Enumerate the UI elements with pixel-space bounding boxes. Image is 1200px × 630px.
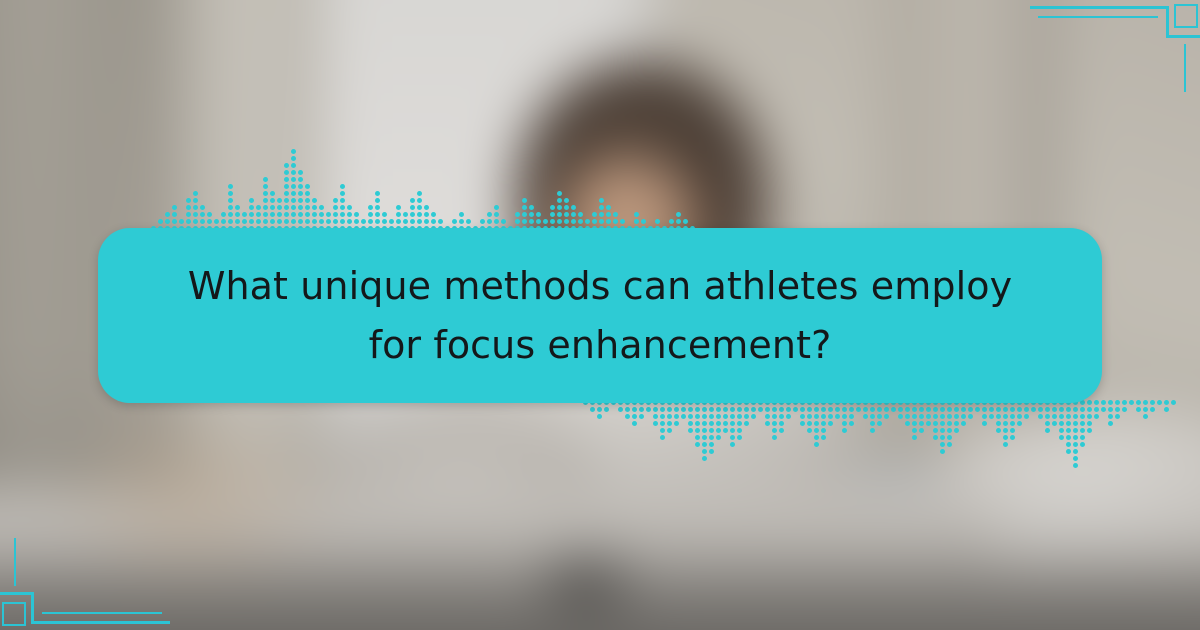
waveform-dot [667,428,672,433]
waveform-bar [820,400,827,442]
waveform-dot [779,407,784,412]
waveform-bar [290,149,297,233]
waveform-dot [431,219,436,224]
waveform-dot [193,191,198,196]
waveform-dot [1059,428,1064,433]
waveform-dot [543,219,548,224]
waveform-bar [1037,400,1044,421]
waveform-dot [1045,428,1050,433]
waveform-bar [834,400,841,421]
waveform-dot [772,407,777,412]
waveform-bar [904,400,911,428]
waveform-dot [298,205,303,210]
waveform-dot [550,212,555,217]
waveform-dot [431,212,436,217]
waveform-dot [814,442,819,447]
waveform-dot [557,191,562,196]
deco-line-horizontal-3 [0,592,34,595]
waveform-dot [821,421,826,426]
waveform-bar [806,400,813,435]
waveform-dot [312,212,317,217]
waveform-dot [291,219,296,224]
waveform-dot [842,414,847,419]
waveform-dot [772,414,777,419]
waveform-dot [926,414,931,419]
waveform-dot [284,205,289,210]
waveform-dot [940,442,945,447]
waveform-dot [779,414,784,419]
waveform-bar [743,400,750,428]
waveform-dot [1059,421,1064,426]
waveform-bar [1163,400,1170,414]
waveform-dot [459,219,464,224]
waveform-dot [1066,428,1071,433]
waveform-dot [667,407,672,412]
waveform-dot [550,205,555,210]
waveform-dot [256,205,261,210]
waveform-dot [982,407,987,412]
waveform-dot [312,219,317,224]
waveform-dot [870,414,875,419]
waveform-dot [354,219,359,224]
waveform-dot [291,205,296,210]
waveform-bar [1156,400,1163,407]
waveform-dot [625,407,630,412]
waveform-dot [1010,428,1015,433]
waveform-dot [291,156,296,161]
waveform-dot [744,407,749,412]
waveform-dot [814,407,819,412]
waveform-dot [214,219,219,224]
waveform-dot [1101,400,1106,405]
waveform-dot [982,414,987,419]
waveform-dot [814,435,819,440]
waveform-dot [263,219,268,224]
waveform-dot [1003,407,1008,412]
waveform-dot [1038,407,1043,412]
waveform-dot [333,219,338,224]
waveform-dot [270,212,275,217]
waveform-dot [730,435,735,440]
waveform-dot [1143,414,1148,419]
waveform-bar [932,400,939,442]
waveform-dot [424,205,429,210]
waveform-dot [410,205,415,210]
waveform-dot [884,407,889,412]
waveform-dot [667,421,672,426]
waveform-bar [925,400,932,428]
waveform-dot [291,191,296,196]
waveform-dot [235,219,240,224]
waveform-dot [1136,407,1141,412]
waveform-bar [1023,400,1030,421]
waveform-bar [1058,400,1065,442]
waveform-dot [256,212,261,217]
waveform-dot [200,212,205,217]
waveform-dot [933,421,938,426]
waveform-bar [1079,400,1086,449]
waveform-dot [961,421,966,426]
waveform-dot [926,421,931,426]
waveform-dot [228,198,233,203]
waveform-dot [870,421,875,426]
waveform-dot [695,442,700,447]
waveform-dot [877,407,882,412]
waveform-bar [374,191,381,233]
waveform-dot [765,407,770,412]
waveform-dot [634,212,639,217]
waveform-bar [1149,400,1156,414]
question-line-2: for focus enhancement? [369,323,832,367]
waveform-dot [277,219,282,224]
waveform-dot [646,407,651,412]
waveform-dot [291,198,296,203]
waveform-dot [578,219,583,224]
waveform-dot [319,219,324,224]
waveform-dot [326,219,331,224]
waveform-dot [1073,456,1078,461]
waveform-dot [242,219,247,224]
waveform-dot [305,219,310,224]
waveform-dot [702,442,707,447]
waveform-dot [277,198,282,203]
waveform-bar [862,400,869,421]
waveform-dot [613,212,618,217]
waveform-dot [863,407,868,412]
waveform-bar [1072,400,1079,470]
waveform-dot [634,219,639,224]
waveform-dot [709,421,714,426]
waveform-dot [284,191,289,196]
waveform-dot [1150,400,1155,405]
waveform-dot [772,428,777,433]
waveform-dot [333,198,338,203]
waveform-bar [1065,400,1072,456]
waveform-dot [368,212,373,217]
waveform-dot [606,219,611,224]
waveform-dot [298,191,303,196]
waveform-dot [716,414,721,419]
waveform-dot [989,414,994,419]
waveform-dot [681,414,686,419]
waveform-dot [1066,449,1071,454]
waveform-bar [596,400,603,421]
waveform-dot [1101,407,1106,412]
waveform-dot [403,219,408,224]
waveform-dot [695,435,700,440]
waveform-bar [1170,400,1177,407]
waveform-bar [722,400,729,435]
waveform-dot [298,184,303,189]
waveform-dot [249,212,254,217]
waveform-dot [1080,421,1085,426]
waveform-dot [571,219,576,224]
waveform-dot [1024,407,1029,412]
waveform-dot [688,414,693,419]
waveform-bar [652,400,659,428]
waveform-dot [1094,414,1099,419]
waveform-dot [284,163,289,168]
waveform-dot [821,435,826,440]
waveform-dot [284,184,289,189]
waveform-dot [620,219,625,224]
waveform-dot [340,191,345,196]
waveform-dot [898,414,903,419]
waveform-dot [947,414,952,419]
waveform-dot [849,421,854,426]
waveform-dot [989,407,994,412]
waveform-dot [494,219,499,224]
waveform-dot [228,191,233,196]
waveform-dot [347,205,352,210]
waveform-bar [680,400,687,421]
waveform-dot [1115,407,1120,412]
waveform-dot [382,219,387,224]
waveform-dot [947,442,952,447]
waveform-bar [624,400,631,421]
waveform-dot [291,212,296,217]
waveform-dot [1157,400,1162,405]
waveform-dot [695,414,700,419]
waveform-dot [179,219,184,224]
waveform-bar [1009,400,1016,442]
waveform-dot [639,414,644,419]
waveform-dot [186,198,191,203]
waveform-bar [1044,400,1051,435]
waveform-bar [967,400,974,421]
waveform-dot [263,177,268,182]
waveform-dot [618,407,623,412]
waveform-dot [660,428,665,433]
waveform-dot [709,407,714,412]
waveform-dot [737,428,742,433]
waveform-dot [340,219,345,224]
waveform-dot [1080,414,1085,419]
waveform-bar [262,177,269,233]
waveform-dot [186,219,191,224]
waveform-dot [375,198,380,203]
waveform-bar [1107,400,1114,428]
waveform-bar [659,400,666,442]
waveform-dot [571,212,576,217]
waveform-dot [305,205,310,210]
waveform-dot [842,428,847,433]
waveform-dot [186,205,191,210]
waveform-dot [940,449,945,454]
waveform-dot [487,219,492,224]
waveform-dot [333,212,338,217]
waveform-dot [730,428,735,433]
waveform-dot [982,421,987,426]
waveform-bar [1016,400,1023,428]
waveform-dot [557,198,562,203]
waveform-dot [298,212,303,217]
waveform-dot [487,212,492,217]
waveform-dot [1150,407,1155,412]
waveform-dot [375,219,380,224]
waveform-dot [606,212,611,217]
waveform-dot [298,177,303,182]
waveform-dot [947,435,952,440]
waveform-dot [926,407,931,412]
waveform-dot [1108,414,1113,419]
waveform-dot [996,407,1001,412]
waveform-dot [312,198,317,203]
waveform-dot [660,407,665,412]
waveform-bar [771,400,778,442]
waveform-bar [631,400,638,428]
waveform-dot [905,421,910,426]
deco-line-horizontal-1 [1030,6,1166,9]
waveform-dot [571,205,576,210]
waveform-dot [284,177,289,182]
waveform-bar [981,400,988,428]
waveform-dot [597,414,602,419]
waveform-bar [192,191,199,233]
waveform-dot [1045,407,1050,412]
waveform-dot [1073,407,1078,412]
waveform-dot [1087,421,1092,426]
waveform-dot [919,421,924,426]
waveform-dot [919,428,924,433]
waveform-dot [1038,414,1043,419]
waveform-dot [606,205,611,210]
waveform-bar [799,400,806,428]
waveform-dot [172,205,177,210]
waveform-bar [953,400,960,435]
waveform-dot [912,407,917,412]
waveform-bar [883,400,890,421]
waveform-dot [954,421,959,426]
waveform-bar [339,184,346,233]
waveform-dot [1003,435,1008,440]
waveform-bar [736,400,743,442]
waveform-dot [557,212,562,217]
waveform-dot [709,414,714,419]
waveform-dot [807,407,812,412]
waveform-dot [599,212,604,217]
waveform-bar [764,400,771,428]
waveform-dot [653,414,658,419]
waveform-dot [1080,428,1085,433]
waveform-dot [347,219,352,224]
deco-line-vertical-1 [31,592,34,624]
waveform-dot [1010,421,1015,426]
waveform-dot [305,212,310,217]
waveform-dot [193,198,198,203]
waveform-dot [389,219,394,224]
waveform-dot [793,407,798,412]
waveform-dot [354,212,359,217]
waveform-dot [842,421,847,426]
waveform-dot [723,428,728,433]
waveform-dot [625,414,630,419]
waveform-dot [298,198,303,203]
waveform-dot [284,212,289,217]
waveform-dot [284,219,289,224]
waveform-dot [1059,435,1064,440]
waveform-dot [807,421,812,426]
waveform-dot [417,205,422,210]
waveform-bar [1135,400,1142,414]
waveform-dot [564,219,569,224]
waveform-dot [744,421,749,426]
waveform-dot [961,407,966,412]
waveform-dot [158,219,163,224]
waveform-bar [1142,400,1149,421]
waveform-dot [933,407,938,412]
waveform-dot [723,414,728,419]
waveform-dot [228,219,233,224]
waveform-dot [459,212,464,217]
waveform-dot [737,421,742,426]
waveform-dot [263,205,268,210]
waveform-dot [263,191,268,196]
audio-waveform-top [150,149,696,233]
waveform-dot [730,407,735,412]
waveform-dot [1073,435,1078,440]
audio-waveform-bottom [582,400,1177,470]
waveform-dot [688,407,693,412]
waveform-dot [751,407,756,412]
waveform-dot [298,219,303,224]
deco-line-vertical-1 [1166,6,1169,38]
waveform-dot [688,428,693,433]
waveform-dot [716,407,721,412]
waveform-dot [849,407,854,412]
question-text: What unique methods can athletes employ … [188,257,1012,375]
waveform-dot [424,212,429,217]
waveform-dot [522,219,527,224]
waveform-dot [905,414,910,419]
waveform-bar [813,400,820,449]
waveform-bar [988,400,995,421]
waveform-dot [779,428,784,433]
waveform-dot [786,414,791,419]
waveform-dot [702,435,707,440]
deco-square [1174,4,1198,28]
waveform-dot [1108,400,1113,405]
waveform-dot [912,428,917,433]
waveform-dot [730,421,735,426]
waveform-dot [613,219,618,224]
waveform-dot [786,407,791,412]
waveform-dot [877,414,882,419]
waveform-dot [1024,414,1029,419]
waveform-dot [933,435,938,440]
waveform-dot [702,428,707,433]
waveform-dot [681,407,686,412]
waveform-dot [919,414,924,419]
waveform-dot [1017,407,1022,412]
question-line-1: What unique methods can athletes employ [188,264,1012,308]
waveform-dot [655,219,660,224]
waveform-bar [269,191,276,233]
waveform-dot [291,184,296,189]
waveform-dot [242,212,247,217]
waveform-dot [410,212,415,217]
waveform-dot [1122,407,1127,412]
waveform-dot [256,219,261,224]
waveform-dot [1066,407,1071,412]
waveform-dot [968,414,973,419]
waveform-dot [564,205,569,210]
waveform-dot [501,219,506,224]
waveform-dot [968,407,973,412]
waveform-dot [940,428,945,433]
waveform-bar [911,400,918,442]
waveform-dot [1059,407,1064,412]
